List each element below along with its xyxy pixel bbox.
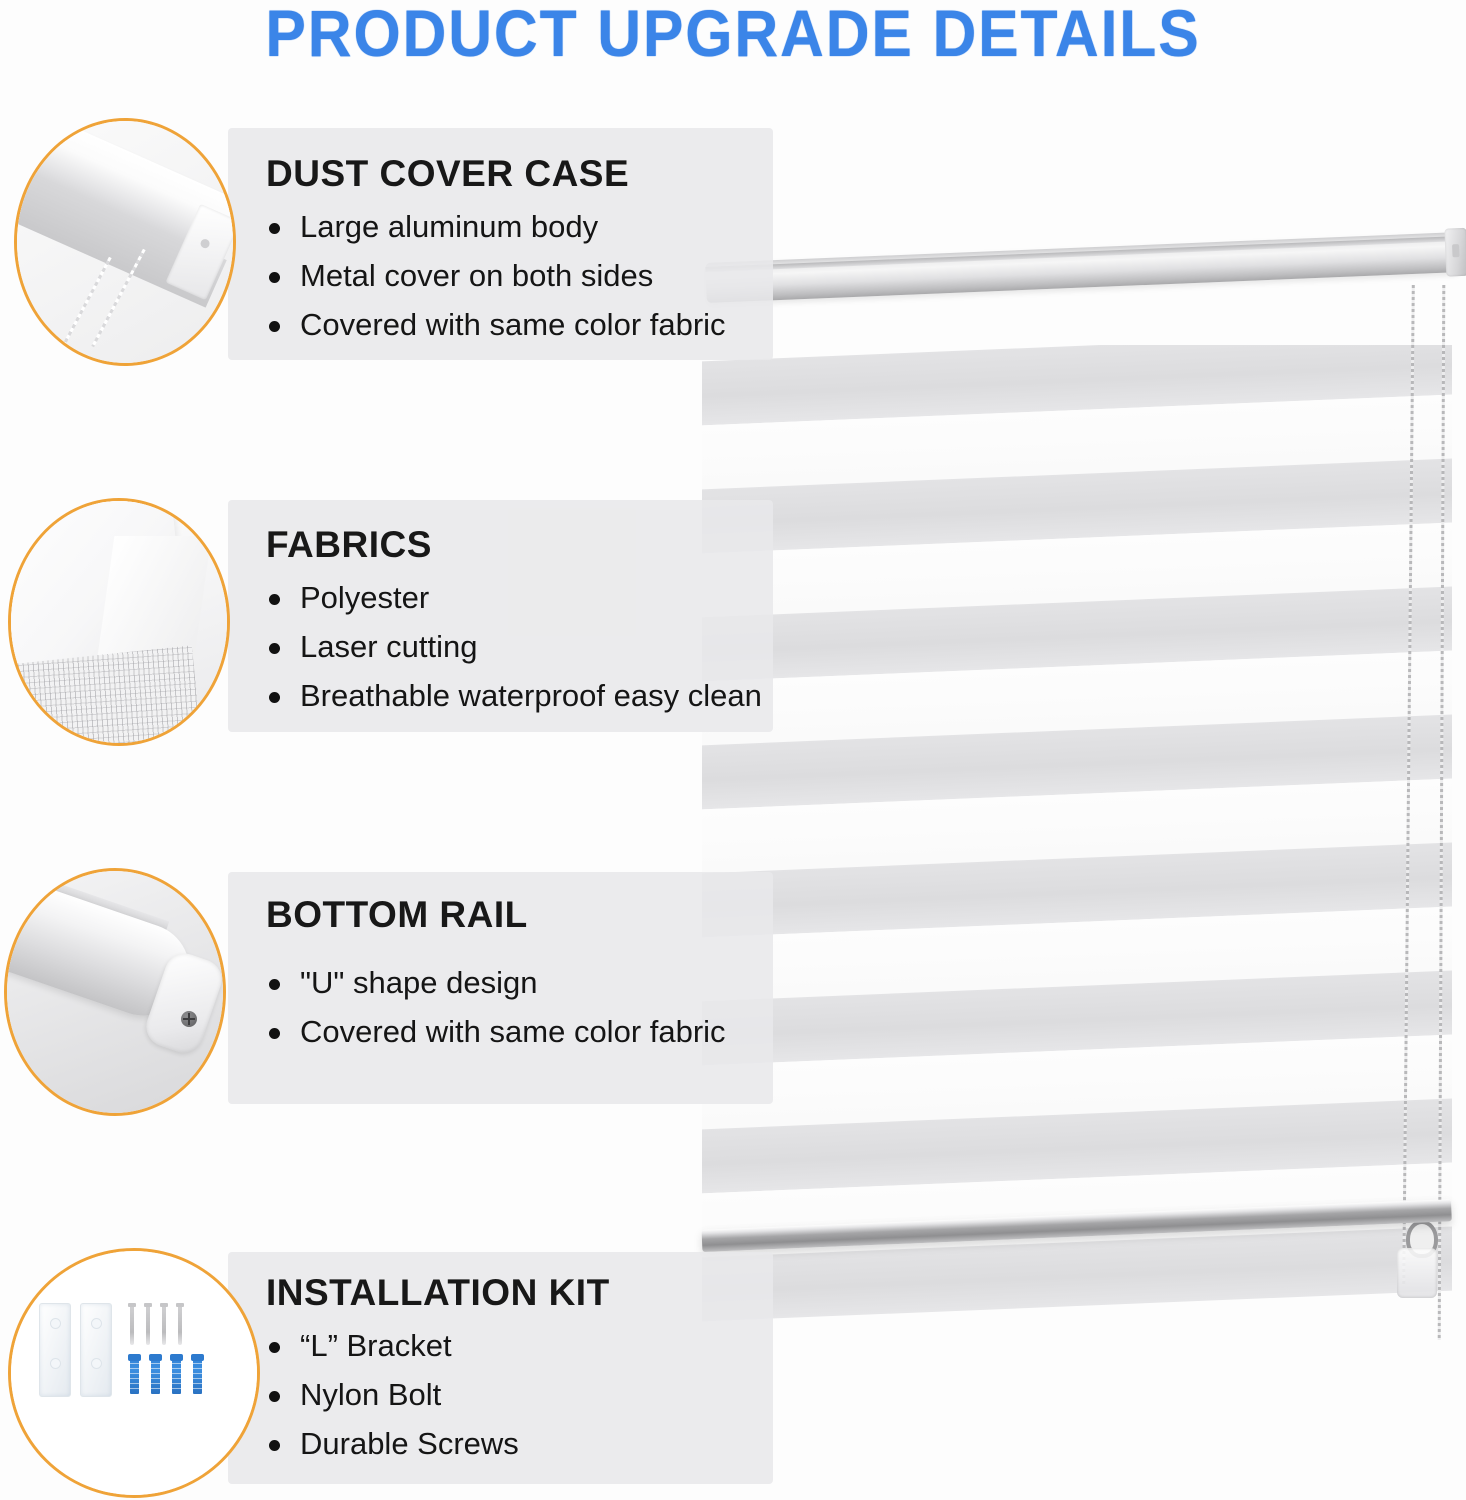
bullet-list-installation-kit: “L” Bracket Nylon Bolt Durable Screws — [266, 1321, 519, 1468]
section-heading-installation-kit: INSTALLATION KIT — [266, 1272, 610, 1314]
dust-cover-case-photo — [14, 118, 236, 366]
section-heading-fabrics: FABRICS — [266, 524, 432, 566]
section-heading-bottom-rail: BOTTOM RAIL — [266, 894, 528, 936]
bullet-item: Metal cover on both sides — [266, 251, 726, 300]
l-bracket-icon — [39, 1303, 71, 1397]
bullet-item: “L” Bracket — [266, 1321, 519, 1370]
bullet-item: Nylon Bolt — [266, 1370, 519, 1419]
bullet-item: "U" shape design — [266, 958, 726, 1007]
bullet-item: Durable Screws — [266, 1419, 519, 1468]
section-heading-dust-cover-case: DUST COVER CASE — [266, 153, 629, 195]
bullet-list-dust-cover-case: Large aluminum body Metal cover on both … — [266, 202, 726, 349]
zebra-roller-blind-image — [690, 185, 1466, 1345]
wall-anchors-group — [130, 1354, 202, 1394]
bullet-item: Large aluminum body — [266, 202, 726, 251]
infographic-page: PRODUCT UPGRADE DETAILS — [0, 0, 1466, 1500]
bullet-item: Breathable waterproof easy clean — [266, 671, 762, 720]
chain-tensioner — [1397, 1248, 1437, 1298]
bullet-list-fabrics: Polyester Laser cutting Breathable water… — [266, 573, 762, 720]
bottom-rail-photo — [4, 868, 226, 1116]
bullet-item: Polyester — [266, 573, 762, 622]
bullet-item: Covered with same color fabric — [266, 1007, 726, 1056]
bullet-item: Laser cutting — [266, 622, 762, 671]
headrail-end-cap — [1444, 228, 1466, 277]
headrail-cassette — [705, 232, 1458, 303]
installation-kit-photo — [8, 1248, 260, 1498]
bullet-item: Covered with same color fabric — [266, 300, 726, 349]
bullet-list-bottom-rail: "U" shape design Covered with same color… — [266, 958, 726, 1056]
l-bracket-icon — [80, 1303, 112, 1397]
screws-group — [130, 1303, 202, 1345]
page-title: PRODUCT UPGRADE DETAILS — [59, 0, 1408, 68]
fabric-swatch-photo — [8, 498, 230, 746]
